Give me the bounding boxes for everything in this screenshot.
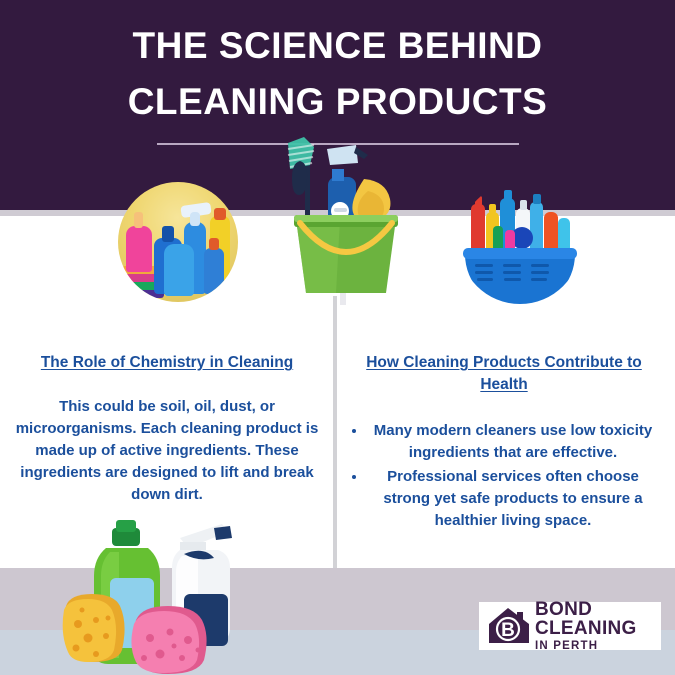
column-right: How Cleaning Products Contribute to Heal…: [345, 352, 663, 534]
column-divider: [333, 296, 337, 570]
left-column-heading: The Role of Chemistry in Cleaning: [12, 352, 322, 374]
basket-illustration: [459, 182, 581, 304]
logo-name-primary: BOND CLEANING: [535, 600, 661, 638]
left-column-body: This could be soil, oil, dust, or microo…: [12, 396, 322, 506]
svg-text:B: B: [501, 620, 515, 641]
page-title: THE SCIENCE BEHIND CLEANING PRODUCTS: [0, 18, 675, 130]
logo[interactable]: B BOND CLEANING IN PERTH: [479, 602, 661, 650]
bucket-illustration: [270, 135, 420, 305]
right-column-heading: How Cleaning Products Contribute to Heal…: [345, 352, 663, 396]
house-with-b-icon: B: [487, 607, 531, 645]
cleaning-products-illustration: [62, 498, 252, 675]
cleaning-bottles-photo: [118, 182, 238, 302]
right-column-bullets: Many modern cleaners use low toxicity in…: [345, 420, 663, 532]
logo-name-secondary: IN PERTH: [535, 641, 661, 653]
column-left: The Role of Chemistry in Cleaning This c…: [12, 352, 322, 506]
list-item: Professional services often choose stron…: [367, 466, 659, 532]
infographic-canvas: THE SCIENCE BEHIND CLEANING PRODUCTS: [0, 0, 675, 675]
cleaning-basket-photo: [459, 182, 581, 304]
list-item: Many modern cleaners use low toxicity in…: [367, 420, 659, 464]
